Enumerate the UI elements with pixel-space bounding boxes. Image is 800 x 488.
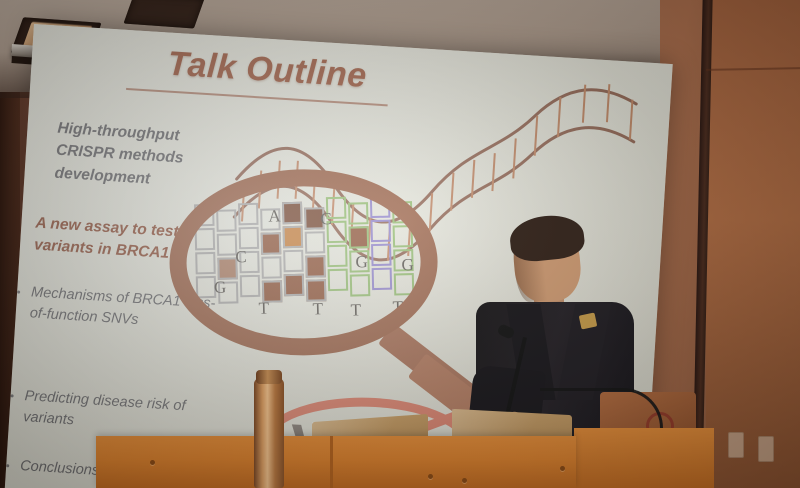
light-switch-plate	[758, 436, 774, 462]
bullet-text: Predicting disease risk of variants	[23, 386, 226, 440]
ceiling-light-recess	[123, 0, 204, 28]
podium-panel-front	[96, 436, 576, 488]
slide-bullet-2: Predicting disease risk of variants	[9, 385, 226, 440]
bullet-dot-icon	[11, 394, 14, 397]
conference-photo: Talk Outline High-throughput CRISPR meth…	[0, 0, 800, 488]
bullet-dot-icon	[17, 290, 20, 293]
podium-screw	[150, 460, 155, 465]
water-bottle	[254, 378, 284, 488]
podium-panel-right	[574, 428, 714, 488]
podium-screw	[428, 474, 433, 479]
magnifier-lens-ring-icon	[169, 168, 438, 356]
podium-panel-seam	[330, 436, 333, 488]
water-bottle-cap	[256, 370, 282, 384]
podium-screw	[462, 478, 467, 483]
podium-screw	[560, 466, 565, 471]
bullet-dot-icon	[6, 464, 9, 467]
light-switch-plate	[728, 432, 744, 458]
far-wall	[706, 0, 800, 488]
magnifier-graphic: ACGTCGTTTG	[164, 161, 443, 367]
